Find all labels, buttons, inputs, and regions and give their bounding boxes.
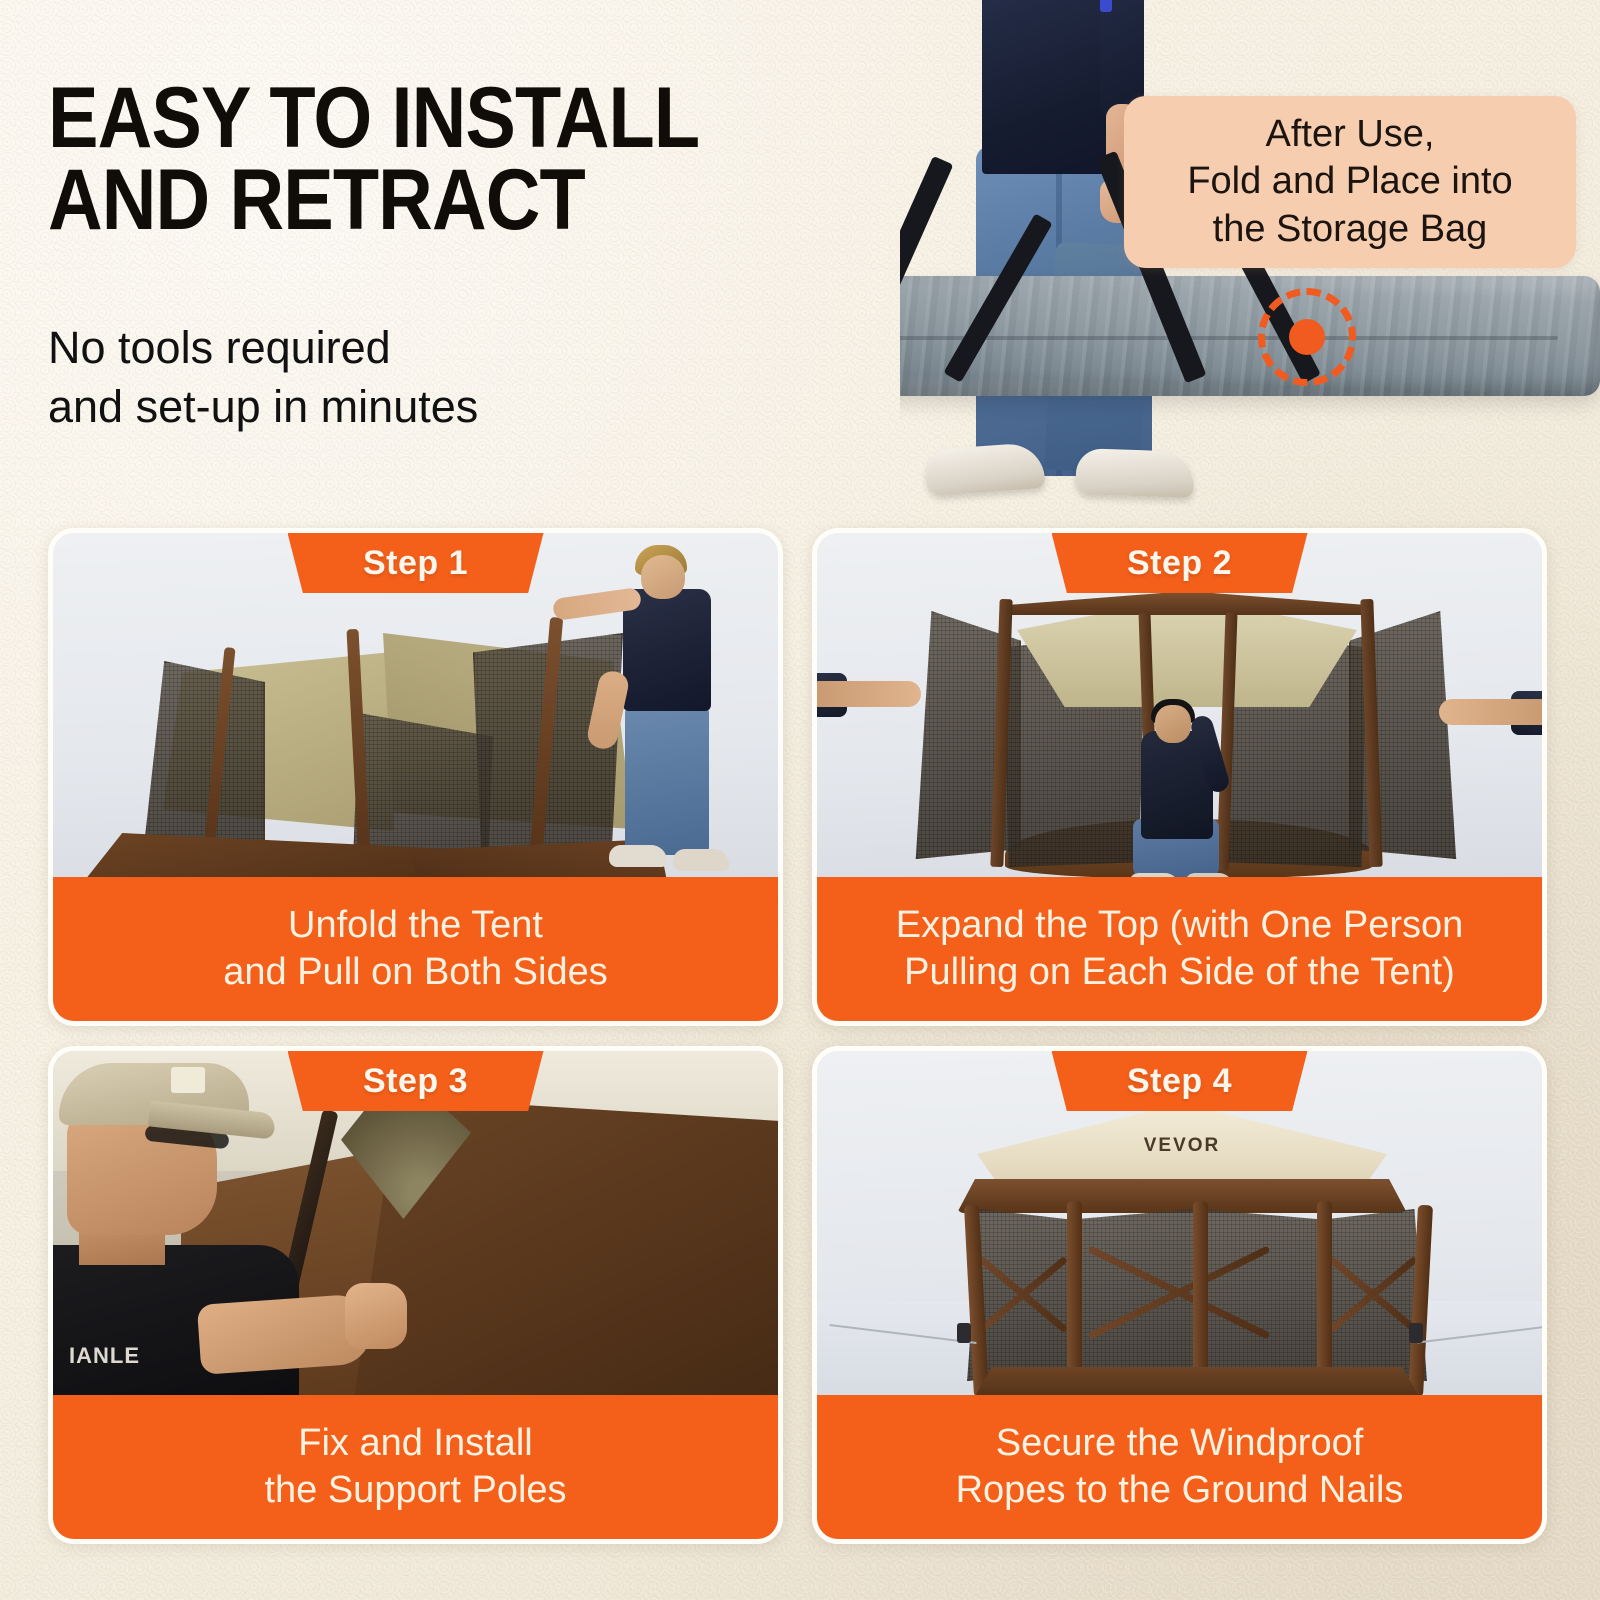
step-1-caption: Unfold the Tent and Pull on Both Sides (53, 877, 778, 1021)
step-badge-label: Step 1 (363, 544, 468, 583)
tent-roof-edge (1003, 591, 1371, 615)
callout-line-1: After Use, (1266, 111, 1435, 158)
caption-line-1: Secure the Windproof (996, 1420, 1364, 1468)
storage-bag (900, 276, 1600, 396)
vevor-brand-logo: VEVOR (1117, 1135, 1247, 1161)
caption-line-2: Pulling on Each Side of the Tent) (904, 949, 1455, 997)
step-1-photo: Step 1 (53, 533, 778, 887)
step-badge-3: Step 3 (288, 1051, 544, 1111)
tent-mesh-panel (1199, 1209, 1321, 1381)
step-badge-1: Step 1 (288, 533, 544, 593)
step-2-caption: Expand the Top (with One Person Pulling … (817, 877, 1542, 1021)
man-cap-tag (171, 1067, 205, 1093)
step-4-caption: Secure the Windproof Ropes to the Ground… (817, 1395, 1542, 1539)
person-left-shoe (925, 442, 1046, 496)
person-shoe (673, 849, 729, 871)
person-shoe (609, 845, 667, 867)
shirt-logo-patch (1100, 0, 1112, 12)
tent-eave-band (957, 1179, 1407, 1213)
ground-nail-right (1409, 1323, 1423, 1343)
step-card-3[interactable]: IANLE Step 3 Fix and Install the Support… (48, 1046, 783, 1544)
tent-corner-leg (1317, 1201, 1332, 1393)
step-badge-2: Step 2 (1052, 533, 1308, 593)
caption-line-1: Unfold the Tent (288, 902, 543, 950)
bag-sun-logo-icon (1258, 288, 1356, 386)
subtitle: No tools required and set-up in minutes (48, 318, 668, 437)
tent-corner-leg (1193, 1201, 1208, 1393)
step-badge-4: Step 4 (1052, 1051, 1308, 1111)
caption-line-2: the Support Poles (264, 1467, 566, 1515)
caption-line-2: and Pull on Both Sides (223, 949, 608, 997)
helper-right-arm (1439, 699, 1542, 725)
page-title: EASY TO INSTALL AND RETRACT (48, 78, 768, 241)
subtitle-line-2: and set-up in minutes (48, 377, 668, 436)
headline-line-1: EASY TO INSTALL (48, 78, 682, 160)
helper-left-arm (817, 681, 921, 707)
storage-bag-callout: After Use, Fold and Place into the Stora… (1124, 96, 1576, 268)
callout-line-3: the Storage Bag (1213, 206, 1488, 253)
person-right-shoe (1075, 448, 1195, 498)
tent-corner-leg (1067, 1201, 1082, 1393)
shirt-text: IANLE (69, 1343, 155, 1369)
step-card-2[interactable]: Step 2 Expand the Top (with One Person P… (812, 528, 1547, 1026)
headline-line-2: AND RETRACT (48, 160, 682, 242)
person-legs (625, 705, 709, 855)
callout-line-2: Fold and Place into (1187, 158, 1512, 205)
step-card-1[interactable]: Step 1 Unfold the Tent and Pull on Both … (48, 528, 783, 1026)
bag-seam (900, 336, 1558, 340)
ground-nail-left (957, 1323, 971, 1343)
step-badge-label: Step 2 (1127, 544, 1232, 583)
caption-line-2: Ropes to the Ground Nails (956, 1467, 1404, 1515)
step-3-caption: Fix and Install the Support Poles (53, 1395, 778, 1539)
caption-line-1: Expand the Top (with One Person (896, 902, 1464, 950)
man-hand-gripping-pole (345, 1283, 407, 1349)
step-badge-label: Step 4 (1127, 1062, 1232, 1101)
step-2-photo: Step 2 (817, 533, 1542, 887)
logo-center-dot (1289, 319, 1325, 355)
caption-line-1: Fix and Install (298, 1420, 532, 1468)
person-head (641, 555, 685, 599)
step-3-photo: IANLE Step 3 (53, 1051, 778, 1405)
step-card-4[interactable]: VEVOR Step 4 Secure the Windproof Ropes … (812, 1046, 1547, 1544)
step-badge-label: Step 3 (363, 1062, 468, 1101)
subtitle-line-1: No tools required (48, 318, 668, 377)
kneeling-person-head (1155, 705, 1191, 743)
step-4-photo: VEVOR Step 4 (817, 1051, 1542, 1405)
